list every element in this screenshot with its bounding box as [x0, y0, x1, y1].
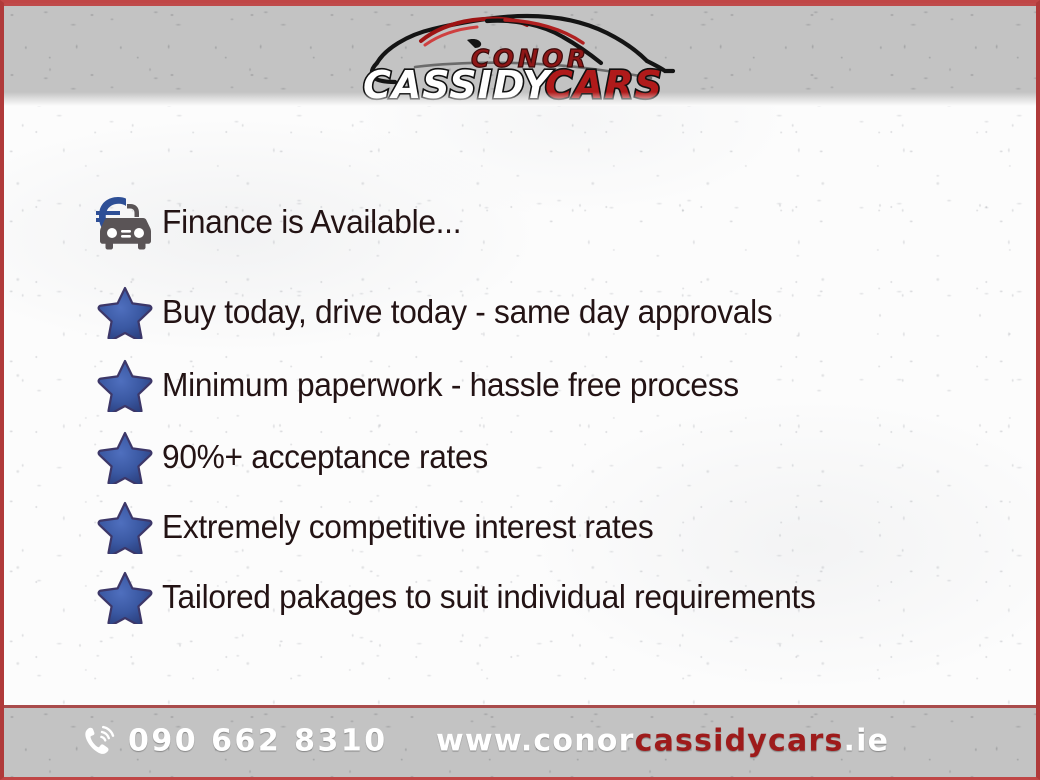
header-banner: CONOR CASSIDY CARS CONOR CASSIDY CARS	[4, 3, 1036, 106]
bullet-slot	[88, 430, 162, 484]
sports-car-outline-icon: CONOR CASSIDY CARS	[355, 5, 685, 105]
header-fade	[4, 92, 1036, 106]
website-brand: cassidycars	[635, 724, 844, 759]
website-suffix: .ie	[844, 724, 890, 759]
website-prefix: www.conor	[436, 724, 635, 759]
phone-number: 090 662 8310	[128, 724, 388, 759]
bullet-slot	[88, 192, 162, 252]
features-list: Finance is Available... Buy today, drive…	[4, 106, 1036, 703]
star-icon	[97, 285, 153, 339]
phone-contact[interactable]: 090 662 8310	[82, 724, 388, 759]
list-item: 90%+ acceptance rates	[88, 426, 1006, 488]
footer-divider	[4, 705, 1036, 708]
star-icon	[97, 358, 153, 412]
list-item-label: Minimum paperwork - hassle free process	[162, 366, 739, 404]
list-item: Buy today, drive today - same day approv…	[88, 281, 1006, 343]
list-item-label: Tailored pakages to suit individual requ…	[162, 578, 816, 616]
website-url[interactable]: www.conorcassidycars.ie	[436, 724, 889, 759]
brand-logo[interactable]: CONOR CASSIDY CARS CONOR CASSIDY CARS	[355, 5, 685, 105]
list-item-label: Extremely competitive interest rates	[162, 508, 653, 546]
list-item-label: 90%+ acceptance rates	[162, 438, 488, 476]
bullet-slot	[88, 285, 162, 339]
list-item: Finance is Available...	[88, 191, 1006, 253]
bullet-slot	[88, 570, 162, 624]
star-icon	[97, 570, 153, 624]
car-euro-finance-icon	[94, 192, 156, 252]
star-icon	[97, 430, 153, 484]
list-item: Extremely competitive interest rates	[88, 496, 1006, 558]
list-item-label: Buy today, drive today - same day approv…	[162, 293, 772, 331]
footer-bar: 090 662 8310 www.conorcassidycars.ie	[4, 705, 1036, 777]
phone-call-icon	[82, 724, 116, 758]
star-icon	[97, 500, 153, 554]
list-item: Tailored pakages to suit individual requ…	[88, 566, 1006, 628]
list-item-label: Finance is Available...	[162, 203, 461, 241]
list-item: Minimum paperwork - hassle free process	[88, 354, 1006, 416]
bullet-slot	[88, 358, 162, 412]
advert-poster: CONOR CASSIDY CARS CONOR CASSIDY CARS	[0, 0, 1040, 780]
bullet-slot	[88, 500, 162, 554]
